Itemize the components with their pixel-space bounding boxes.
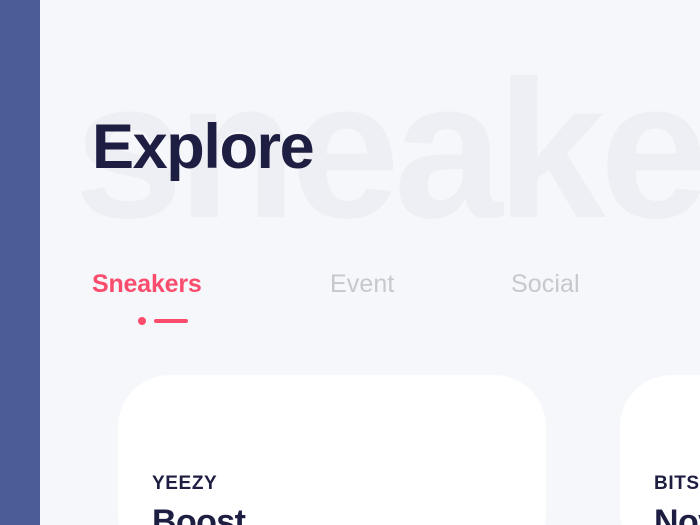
indicator-dot-icon <box>138 317 146 325</box>
tab-event[interactable]: Event <box>330 268 394 301</box>
product-card[interactable]: YEEZY Boost <box>118 375 546 525</box>
product-model-label: Boost <box>152 503 245 525</box>
page-title: Explore <box>92 112 313 183</box>
active-tab-indicator <box>138 317 188 325</box>
tab-sneakers[interactable]: Sneakers <box>92 268 202 301</box>
tab-social[interactable]: Social <box>511 268 580 301</box>
product-card-deck[interactable]: YEEZY Boost BITS Nova <box>40 375 700 525</box>
left-nav-rail[interactable] <box>0 0 40 525</box>
product-brand-label: BITS <box>654 473 700 495</box>
product-card[interactable]: BITS Nova <box>620 375 700 525</box>
main-content: sneake Explore Sneakers Event Social YEE… <box>40 0 700 525</box>
product-model-label: Nova <box>654 503 700 525</box>
product-brand-label: YEEZY <box>152 473 217 495</box>
category-tab-strip: Sneakers Event Social <box>92 268 692 330</box>
indicator-dash-icon <box>154 319 188 323</box>
explore-screen: sneake Explore Sneakers Event Social YEE… <box>0 0 700 525</box>
